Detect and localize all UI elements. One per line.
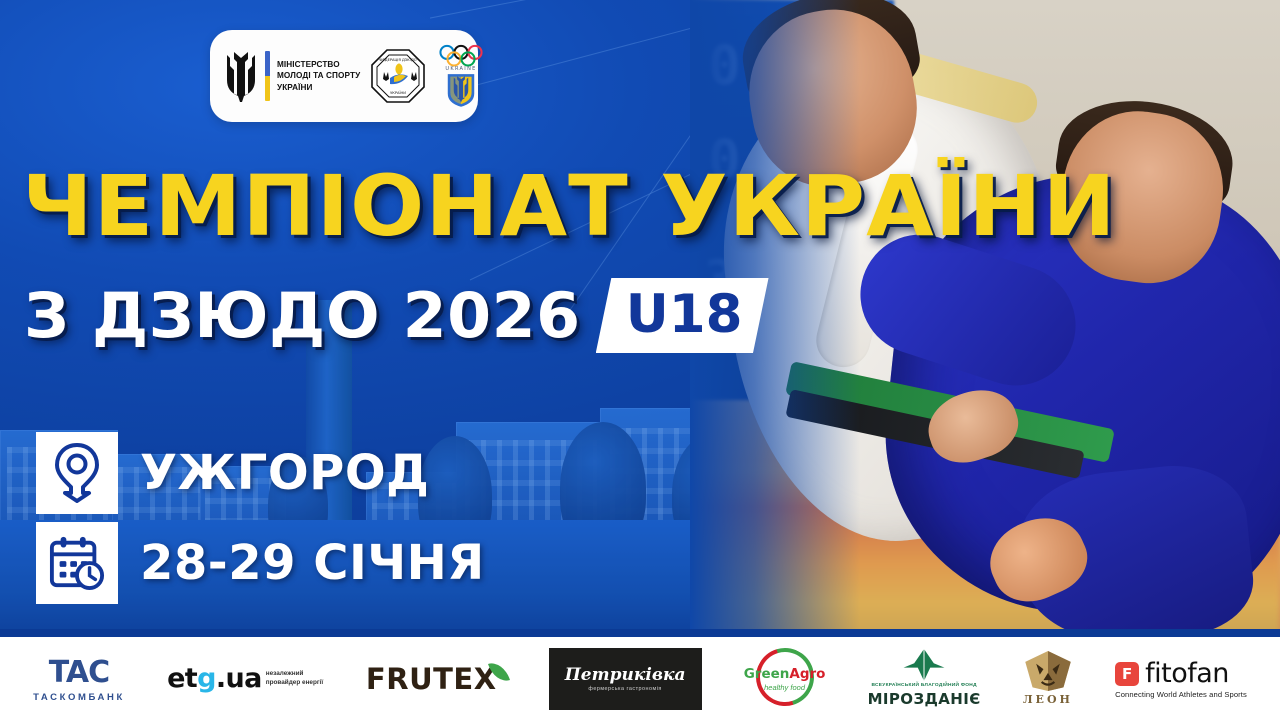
sponsor-bar: TAC ТАСКОМБАНК etg.ua незалежний провайд… [0,637,1280,720]
sponsor-greenagro[interactable]: GreenAgro healthy food [744,648,826,710]
sponsor-frutex[interactable]: FRUTEX [366,648,507,710]
mirozdanie-tagline: ВСЕУКРАЇНСЬКИЙ БЛАГОДІЙНИЙ ФОНД [871,683,976,688]
event-subtitle-row: З ДЗЮДО 2026 U18 [24,278,769,353]
sponsor-tascombank[interactable]: TAC ТАСКОМБАНК [33,648,125,710]
lion-head-icon [1023,651,1073,691]
sponsor-mirozdanie[interactable]: ВСЕУКРАЇНСЬКИЙ БЛАГОДІЙНИЙ ФОНД МІРОЗДАН… [868,648,981,710]
fitofan-wordmark: fitofan [1145,658,1229,689]
greenagro-tagline: healthy food [764,683,805,692]
judo-action-photo: 0 0 0 0 3:0 [690,0,1280,640]
federation-top-text: ФЕДЕРАЦІЯ ДЗЮДО [380,58,417,62]
mirozdanie-wordmark: МІРОЗДАНІЄ [868,690,981,708]
sponsor-petrykivka[interactable]: Петриківка фермерська гастрономія [549,648,702,710]
event-title: ЧЕМПІОНАТ УКРАЇНИ [22,168,750,245]
event-dates: 28-29 СІЧНЯ [140,535,485,591]
ministry-line-3: УКРАЇНИ [277,82,360,94]
ministry-logo: МІНІСТЕРСТВО МОЛОДІ ТА СПОРТУ УКРАЇНИ [224,50,360,102]
sponsor-etg-ua[interactable]: etg.ua незалежний провайдер енергії [167,648,324,710]
ukraine-flag-bar [265,51,270,101]
etg-tagline: незалежний провайдер енергії [266,670,324,687]
organizer-logo-bar: МІНІСТЕРСТВО МОЛОДІ ТА СПОРТУ УКРАЇНИ ФЕ… [210,30,478,122]
event-subtitle: З ДЗЮДО 2026 [24,279,581,352]
sponsor-bar-divider [0,629,1280,637]
calendar-clock-icon [36,522,118,604]
leon-wordmark: ЛЕОН [1023,693,1073,706]
age-category-badge: U18 [596,278,769,353]
sponsor-fitofan[interactable]: fitofan Connecting World Athletes and Sp… [1115,648,1247,710]
fitofan-lockup: fitofan [1115,658,1229,689]
venue-city: УЖГОРОД [140,445,429,501]
etg-part-a: et [167,663,197,694]
olympic-committee-logo: UKRAINE [436,39,486,113]
map-pin-icon [36,432,118,514]
greenagro-part-b: Agro [789,666,825,682]
trident-icon [224,50,258,102]
tas-name: ТАСКОМБАНК [33,692,125,703]
ministry-line-1: МІНІСТЕРСТВО [277,59,360,71]
etg-wordmark: etg.ua [167,663,262,694]
event-details: УЖГОРОД 28-29 СІЧНЯ [36,432,485,604]
greenagro-wordmark: GreenAgro [744,666,826,682]
olympic-rings-icon: UKRAINE [436,44,486,72]
greenagro-part-a: Green [744,666,790,682]
etg-part-z: g [197,663,216,694]
fitofan-mark-icon [1115,662,1139,686]
tas-mark: TAC [49,655,109,690]
ministry-line-2: МОЛОДІ ТА СПОРТУ [277,70,360,82]
venue-row: УЖГОРОД [36,432,485,514]
mirozdanie-leaf-icon [903,649,945,681]
ministry-logo-text: МІНІСТЕРСТВО МОЛОДІ ТА СПОРТУ УКРАЇНИ [277,59,360,94]
judo-federation-logo: ФЕДЕРАЦІЯ ДЗЮДО УКРАЇНИ [370,48,426,104]
sponsor-leon[interactable]: ЛЕОН [1023,648,1073,710]
frutex-wordmark: FRUTEX [366,662,497,696]
petrykivka-wordmark: Петриківка [565,665,686,685]
etg-part-b: .ua [216,663,262,694]
fitofan-tagline: Connecting World Athletes and Sports [1115,690,1247,699]
event-poster: 0 0 0 0 3:0 [0,0,1280,720]
ukraine-shield-icon [446,72,476,108]
federation-bottom-text: УКРАЇНИ [390,90,406,95]
petrykivka-tagline: фермерська гастрономія [588,686,661,692]
date-row: 28-29 СІЧНЯ [36,522,485,604]
